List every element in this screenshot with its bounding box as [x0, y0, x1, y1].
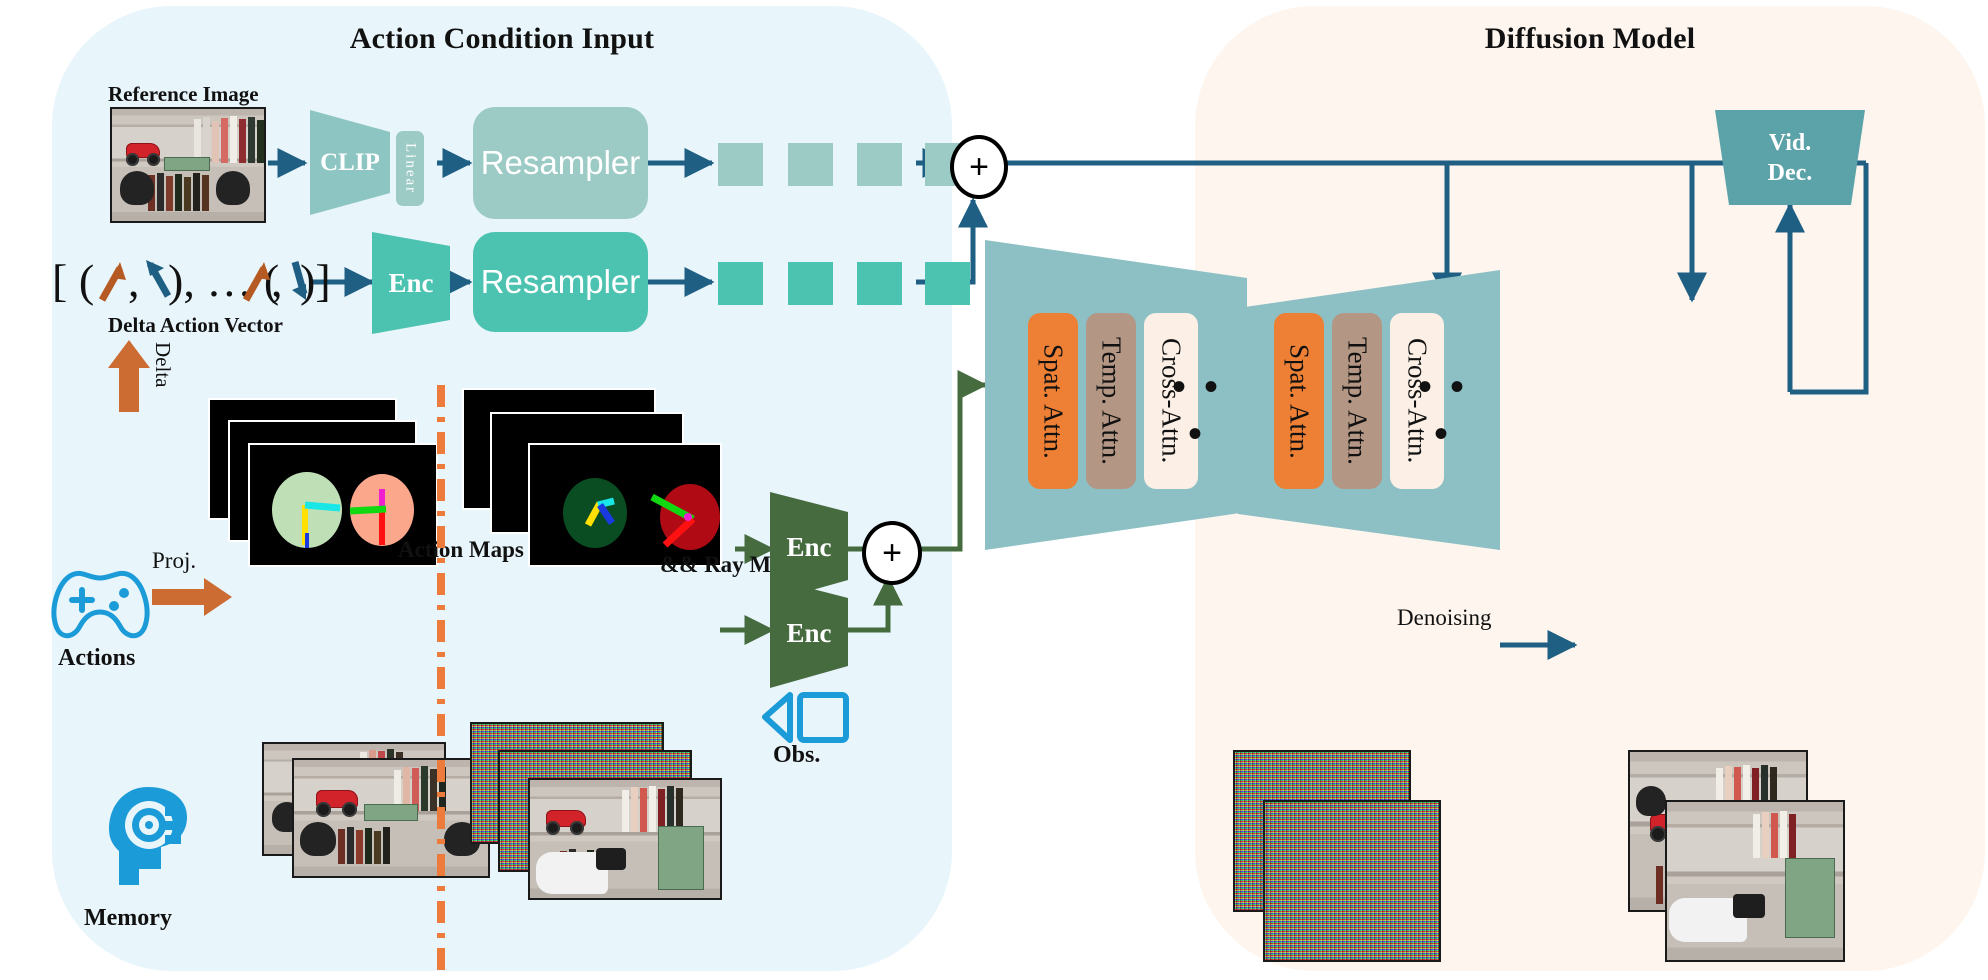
delta-action-vector-label: Delta Action Vector	[108, 313, 283, 338]
svg-text:,: ,	[128, 255, 140, 306]
enc-obs-label: Enc	[770, 578, 848, 688]
action-token	[718, 262, 763, 305]
enc-action-block[interactable]: Enc	[372, 232, 450, 334]
section-divider-lower	[437, 760, 445, 975]
linear-label: Linear	[402, 143, 419, 194]
unet-down-ellipsis: • • •	[1162, 363, 1232, 457]
temp-attn-label-2: Temp. Attn.	[1332, 313, 1382, 489]
clip-label: CLIP	[310, 110, 390, 215]
latent-sum-node: +	[862, 521, 922, 585]
clip-encoder-block[interactable]: CLIP	[310, 110, 390, 215]
proj-label: Proj.	[152, 548, 196, 574]
condition-sum-node: +	[950, 135, 1008, 199]
camera-icon	[760, 690, 850, 745]
section-divider-upper	[437, 385, 445, 760]
action-maps-label: Action Maps	[398, 537, 524, 563]
enc-action-label: Enc	[372, 232, 450, 334]
resampler-image-block[interactable]: Resampler	[473, 107, 648, 219]
sum-symbol: +	[969, 148, 989, 187]
resampler-action-label: Resampler	[473, 232, 648, 332]
spat-attn-block-1[interactable]: Spat. Attn.	[1028, 313, 1078, 489]
gamepad-icon	[48, 568, 153, 640]
image-token	[718, 143, 763, 186]
delta-arrow-label: Delta	[150, 342, 175, 392]
memory-frame-front	[292, 758, 490, 878]
svg-text:), … (: ), … (	[168, 255, 279, 306]
linear-block[interactable]: Linear	[396, 131, 424, 206]
spat-attn-label-2: Spat. Attn.	[1274, 313, 1324, 489]
vid-dec-line1: Vid.	[1769, 128, 1811, 158]
actions-label: Actions	[58, 645, 135, 672]
enc-obs-block[interactable]: Enc	[770, 578, 848, 688]
proj-arrow	[152, 578, 232, 616]
resampler-action-block[interactable]: Resampler	[473, 232, 648, 332]
action-token	[788, 262, 833, 305]
memory-icon	[105, 785, 191, 885]
obs-frame-front	[528, 778, 722, 900]
denoised-output-front	[1665, 800, 1845, 962]
memory-label: Memory	[84, 905, 172, 932]
denoising-input-noisy-front	[1263, 800, 1441, 962]
obs-label: Obs.	[773, 742, 820, 769]
temp-attn-block-2[interactable]: Temp. Attn.	[1332, 313, 1382, 489]
svg-text:,: ,	[271, 255, 283, 306]
temp-attn-label-1: Temp. Attn.	[1086, 313, 1136, 489]
ray-map-frame-front	[528, 443, 722, 567]
video-decoder-block[interactable]: Vid. Dec.	[1715, 110, 1865, 205]
denoising-label: Denoising	[1397, 605, 1492, 631]
spat-attn-block-2[interactable]: Spat. Attn.	[1274, 313, 1324, 489]
image-token	[788, 143, 833, 186]
temp-attn-block-1[interactable]: Temp. Attn.	[1086, 313, 1136, 489]
spat-attn-label-1: Spat. Attn.	[1028, 313, 1078, 489]
image-token	[857, 143, 902, 186]
action-token	[925, 262, 970, 305]
svg-text:)]: )]	[300, 255, 331, 306]
delta-action-vector-expression: [ ( , ), … ( , )]	[50, 248, 320, 310]
unet-up-ellipsis: • • •	[1408, 363, 1478, 457]
sum-symbol-2: +	[882, 534, 902, 573]
resampler-image-label: Resampler	[473, 107, 648, 219]
vid-dec-line2: Dec.	[1768, 158, 1813, 188]
action-token	[857, 262, 902, 305]
svg-text:[ (: [ (	[52, 255, 94, 306]
